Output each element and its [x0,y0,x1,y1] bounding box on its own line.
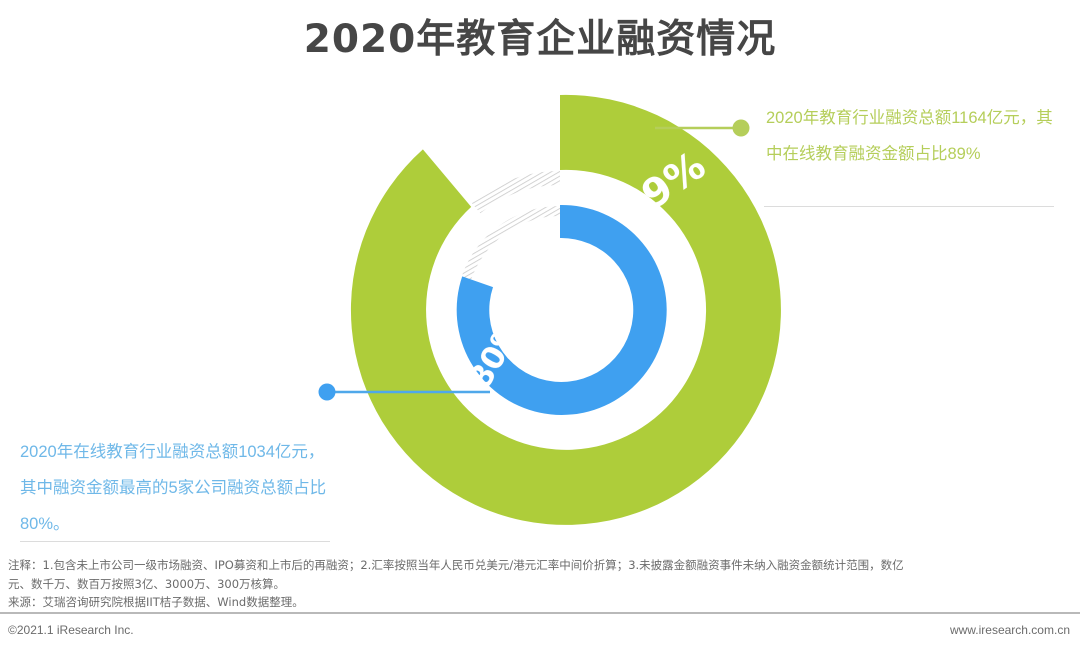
footer: ©2021.1 iResearch Inc. www.iresearch.com… [0,618,1080,651]
inner-callout-dot [319,384,336,401]
footer-copyright: ©2021.1 iResearch Inc. [8,623,134,637]
footnote-line-3: 来源：艾瑞咨询研究院根据IIT桔子数据、Wind数据整理。 [8,593,1072,612]
footer-divider [0,612,1080,614]
outer-callout-dot [733,120,750,137]
inner-ring-remainder [461,206,560,281]
footer-website: www.iresearch.com.cn [950,623,1070,637]
footnotes: 注释：1.包含未上市公司一级市场融资、IPO募资和上市后的再融资；2.汇率按照当… [8,556,1072,612]
inner-annotation-text: 2020年在线教育行业融资总额1034亿元，其中融资金额最高的5家公司融资总额占… [20,434,340,542]
infographic-page: 2020年教育企业融资情况 [0,0,1080,651]
outer-annotation-rule [764,206,1054,207]
outer-annotation-text: 2020年教育行业融资总额1164亿元，其中在线教育融资金额占比89% [766,100,1056,172]
inner-annotation-rule [20,541,330,542]
outer-ring-value-segment [351,95,781,525]
footnote-line-1: 注释：1.包含未上市公司一级市场融资、IPO募资和上市后的再融资；2.汇率按照当… [8,556,1072,575]
footnote-line-2: 元、数千万、数百万按照3亿、3000万、300万核算。 [8,575,1072,594]
